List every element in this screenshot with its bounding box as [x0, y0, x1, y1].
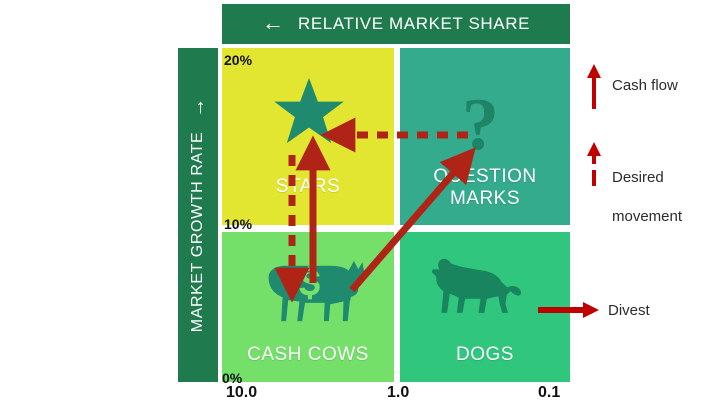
x-axis-title: RELATIVE MARKET SHARE — [298, 14, 530, 34]
legend-item-cash-flow: Cash flow — [586, 62, 678, 110]
matrix-grid: STARS ? QUESTION MARKS CASH COWS DOGS — [222, 48, 570, 382]
quadrant-stars[interactable]: STARS — [222, 48, 394, 225]
quadrant-label-cash-cows: CASH COWS — [222, 344, 394, 366]
quadrant-label-question-marks: QUESTION MARKS — [400, 166, 570, 210]
quadrant-label-question-marks-line1: QUESTION — [400, 166, 570, 188]
right-arrow-icon — [538, 300, 600, 320]
legend-label-divest: Divest — [608, 302, 650, 319]
solid-up-arrow-icon — [586, 62, 602, 110]
quadrant-question-marks[interactable]: ? QUESTION MARKS — [400, 48, 570, 225]
legend-item-desired-movement: Desired movement — [586, 140, 682, 226]
y-axis-header: MARKET GROWTH RATE → — [178, 48, 218, 382]
legend-label-desired-movement-line2: movement — [612, 208, 682, 225]
quadrant-label-stars: STARS — [222, 176, 394, 198]
x-tick-1-0: 1.0 — [387, 384, 409, 402]
x-axis-header: ← RELATIVE MARKET SHARE — [222, 4, 570, 44]
legend-label-cash-flow: Cash flow — [612, 62, 678, 96]
y-axis-title: MARKET GROWTH RATE — [189, 132, 207, 332]
y-axis-header-inner: MARKET GROWTH RATE → — [188, 98, 208, 332]
legend-label-desired-movement: Desired movement — [612, 140, 682, 226]
quadrant-label-dogs: DOGS — [400, 344, 570, 366]
y-tick-20: 20% — [224, 52, 252, 68]
dog-icon — [428, 250, 524, 322]
legend-item-divest: Divest — [538, 300, 650, 320]
legend-label-desired-movement-line1: Desired — [612, 169, 664, 186]
arrow-up-icon: → — [188, 98, 208, 118]
x-tick-0-1: 0.1 — [538, 384, 560, 402]
bcg-matrix-diagram: ← RELATIVE MARKET SHARE MARKET GROWTH RA… — [0, 0, 720, 407]
quadrant-label-question-marks-line2: MARKS — [400, 188, 570, 210]
dashed-up-arrow-icon — [586, 140, 602, 188]
star-icon — [272, 76, 346, 148]
cow-with-dollar-icon — [256, 252, 368, 330]
arrow-left-icon: ← — [262, 12, 284, 34]
y-tick-10: 10% — [224, 216, 252, 232]
question-mark-icon: ? — [462, 88, 499, 162]
x-tick-10-0: 10.0 — [226, 384, 257, 402]
quadrant-cash-cows[interactable]: CASH COWS — [222, 232, 394, 382]
